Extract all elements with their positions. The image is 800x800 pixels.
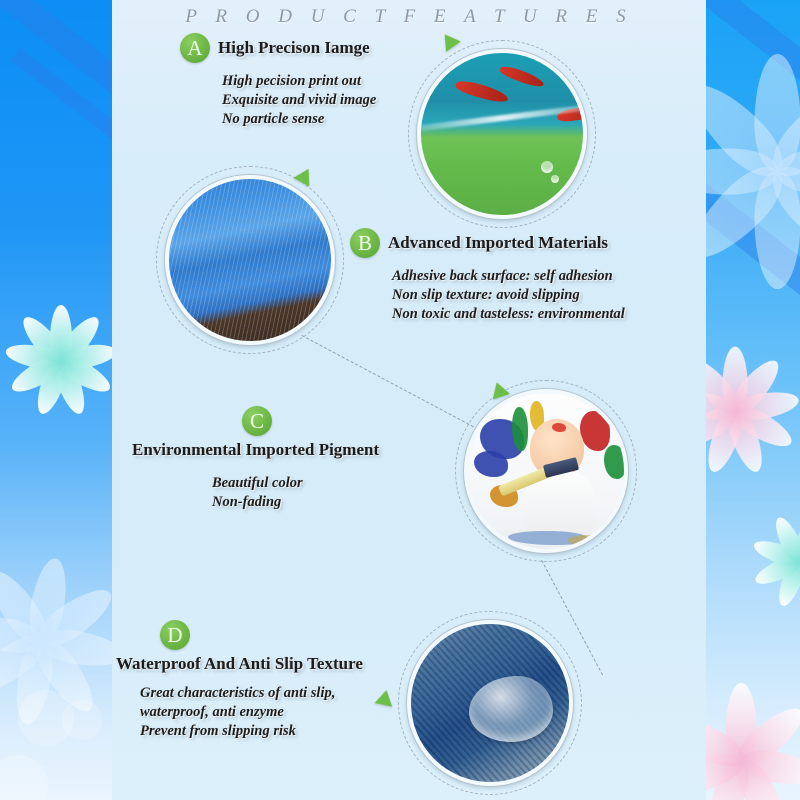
bullet-line: Non-fading xyxy=(212,493,379,512)
decorative-blob xyxy=(62,700,102,740)
teal-flower-motif xyxy=(798,560,799,561)
bullet-line: Non toxic and tasteless: environmental xyxy=(392,305,625,324)
infographic-stage: P R O D U C T F E A T U R E S A High Pre… xyxy=(0,0,800,800)
decorative-blob xyxy=(0,755,48,800)
left-decorative-border xyxy=(0,0,112,800)
feature-block-c: C Environmental Imported Pigment Beautif… xyxy=(132,406,379,512)
pale-flower-motif xyxy=(775,169,777,171)
badge-d: D xyxy=(160,620,190,650)
bullet-line: No particle sense xyxy=(222,110,376,129)
feature-block-b: B Advanced Imported Materials Adhesive b… xyxy=(350,228,625,324)
bullet-line: Non slip texture: avoid slipping xyxy=(392,286,625,305)
blue-fabric-material-photo xyxy=(165,175,335,345)
bullet-line: Beautiful color xyxy=(212,474,379,493)
baby-painting-photo xyxy=(464,389,628,553)
feature-heading-a: High Precison Iamge xyxy=(218,38,370,58)
pink-flower-motif xyxy=(734,410,735,411)
badge-c: C xyxy=(242,406,272,436)
bullet-line: Great characteristics of anti slip, xyxy=(140,684,363,703)
teal-flower-motif xyxy=(60,360,61,361)
feature-heading-d: Waterproof And Anti Slip Texture xyxy=(116,654,363,674)
bullet-line: Prevent from slipping risk xyxy=(140,722,363,741)
badge-a: A xyxy=(180,33,210,63)
badge-b: B xyxy=(350,228,380,258)
bullet-line: Exquisite and vivid image xyxy=(222,91,376,110)
feature-block-a: A High Precison Iamge High pecision prin… xyxy=(180,33,376,129)
right-decorative-border xyxy=(706,0,800,800)
page-title: P R O D U C T F E A T U R E S xyxy=(112,6,706,28)
bullet-line: Adhesive back surface: self adhesion xyxy=(392,267,625,286)
waterproof-droplet-photo xyxy=(407,620,573,786)
arrow-marker-a xyxy=(437,29,460,52)
feature-heading-b: Advanced Imported Materials xyxy=(388,233,608,253)
feature-bullets-c: Beautiful color Non-fading xyxy=(212,474,379,512)
bullet-line: waterproof, anti enzyme xyxy=(140,703,363,722)
arrow-marker-d xyxy=(375,688,396,706)
koi-pond-print-photo xyxy=(417,49,587,219)
bullet-line: High pecision print out xyxy=(222,72,376,91)
pale-flower-motif xyxy=(40,640,42,642)
feature-block-d: D Waterproof And Anti Slip Texture Great… xyxy=(116,620,363,741)
pink-flower-motif xyxy=(740,760,741,761)
feature-bullets-a: High pecision print out Exquisite and vi… xyxy=(222,72,376,129)
feature-bullets-b: Adhesive back surface: self adhesion Non… xyxy=(392,267,625,324)
content-panel: P R O D U C T F E A T U R E S A High Pre… xyxy=(112,0,706,800)
feature-heading-c: Environmental Imported Pigment xyxy=(132,440,379,460)
feature-bullets-d: Great characteristics of anti slip, wate… xyxy=(140,684,363,741)
